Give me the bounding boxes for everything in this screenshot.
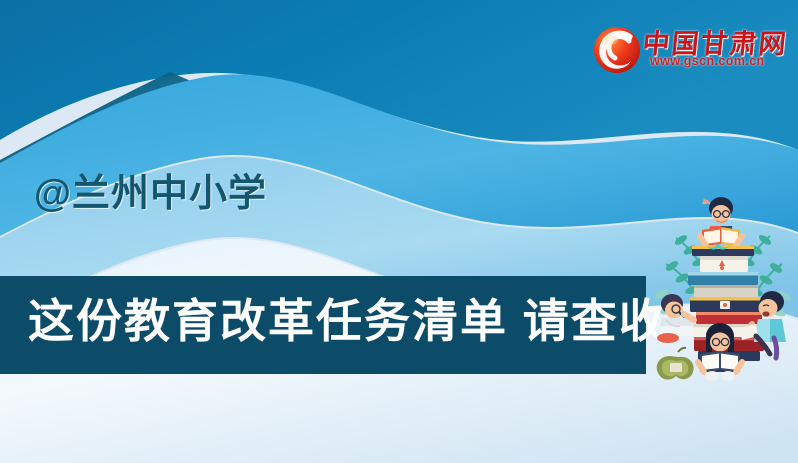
child-left <box>654 294 694 343</box>
headline-secondary: 这份教育改革任务清单 请查收 <box>28 298 667 344</box>
logo-url-text: www.gscn.com.cn <box>650 54 765 68</box>
apple-icon <box>657 348 694 380</box>
child-top <box>700 197 742 246</box>
headline-primary: @兰州中小学 <box>34 175 267 213</box>
gscn-emblem-icon <box>588 21 648 79</box>
poster-root: 中国甘肃网 www.gscn.com.cn @兰州中小学 这份教育改革任务清单 … <box>0 0 798 463</box>
site-logo[interactable]: 中国甘肃网 www.gscn.com.cn <box>588 21 788 79</box>
children-reading-books-illustration <box>648 186 798 382</box>
